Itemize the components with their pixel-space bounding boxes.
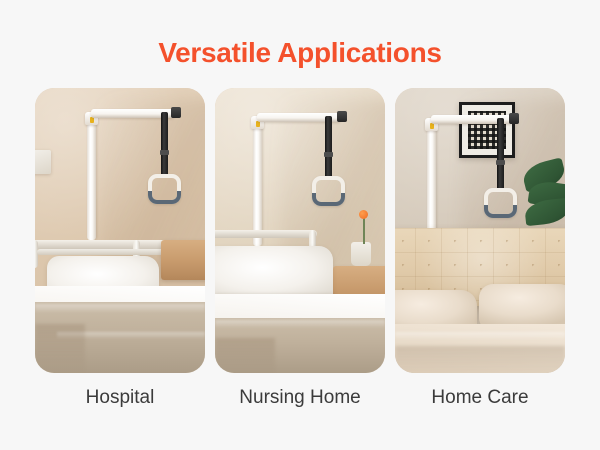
strap-buckle bbox=[496, 160, 505, 165]
arm-end-cap bbox=[337, 111, 347, 122]
page-title: Versatile Applications bbox=[0, 36, 600, 70]
framed-wall-art bbox=[459, 102, 515, 158]
lift-strap bbox=[325, 116, 332, 178]
blanket-fold-a bbox=[35, 304, 205, 313]
wall-cabinet bbox=[35, 150, 51, 174]
lift-handle-grip bbox=[484, 188, 517, 218]
lift-handle-grip bbox=[148, 174, 181, 204]
caption-home-care: Home Care bbox=[395, 386, 565, 410]
bed-headboard-rail bbox=[215, 230, 317, 238]
handle-rubber-grip bbox=[484, 205, 517, 218]
bed-headboard-bar bbox=[37, 249, 167, 255]
lift-pole bbox=[427, 120, 436, 236]
blanket-shade-a bbox=[35, 324, 85, 373]
lift-pole bbox=[87, 114, 96, 240]
lift-handle-grip bbox=[312, 176, 345, 206]
nightstand bbox=[161, 240, 205, 280]
caption-row: Hospital Nursing Home Home Care bbox=[35, 386, 565, 410]
flower-vase bbox=[351, 242, 371, 266]
arm-end-cap bbox=[171, 107, 181, 118]
handle-rubber-grip bbox=[312, 193, 345, 206]
strap-buckle bbox=[324, 152, 333, 157]
application-panel-home-care[interactable] bbox=[395, 88, 565, 373]
lift-pole bbox=[253, 118, 262, 246]
caption-nursing-home: Nursing Home bbox=[215, 386, 385, 410]
lift-strap bbox=[497, 118, 504, 190]
application-panel-hospital[interactable] bbox=[35, 88, 205, 373]
flower-bloom bbox=[359, 210, 368, 219]
application-panel-row bbox=[35, 88, 565, 373]
blanket-fold-a bbox=[215, 320, 385, 328]
handle-rubber-grip bbox=[148, 191, 181, 204]
lift-strap bbox=[161, 112, 168, 176]
arm-end-cap bbox=[509, 113, 519, 124]
caption-hospital: Hospital bbox=[35, 386, 205, 410]
sheet-fold-a bbox=[395, 332, 565, 340]
strap-buckle bbox=[160, 150, 169, 155]
bed-headboard-rail bbox=[35, 240, 174, 249]
application-panel-nursing-home[interactable] bbox=[215, 88, 385, 373]
flower-stem bbox=[363, 216, 365, 244]
blanket-shade-a bbox=[215, 338, 275, 373]
poster-root: Versatile Applications bbox=[0, 0, 600, 450]
sheet-shade-a bbox=[395, 346, 565, 373]
